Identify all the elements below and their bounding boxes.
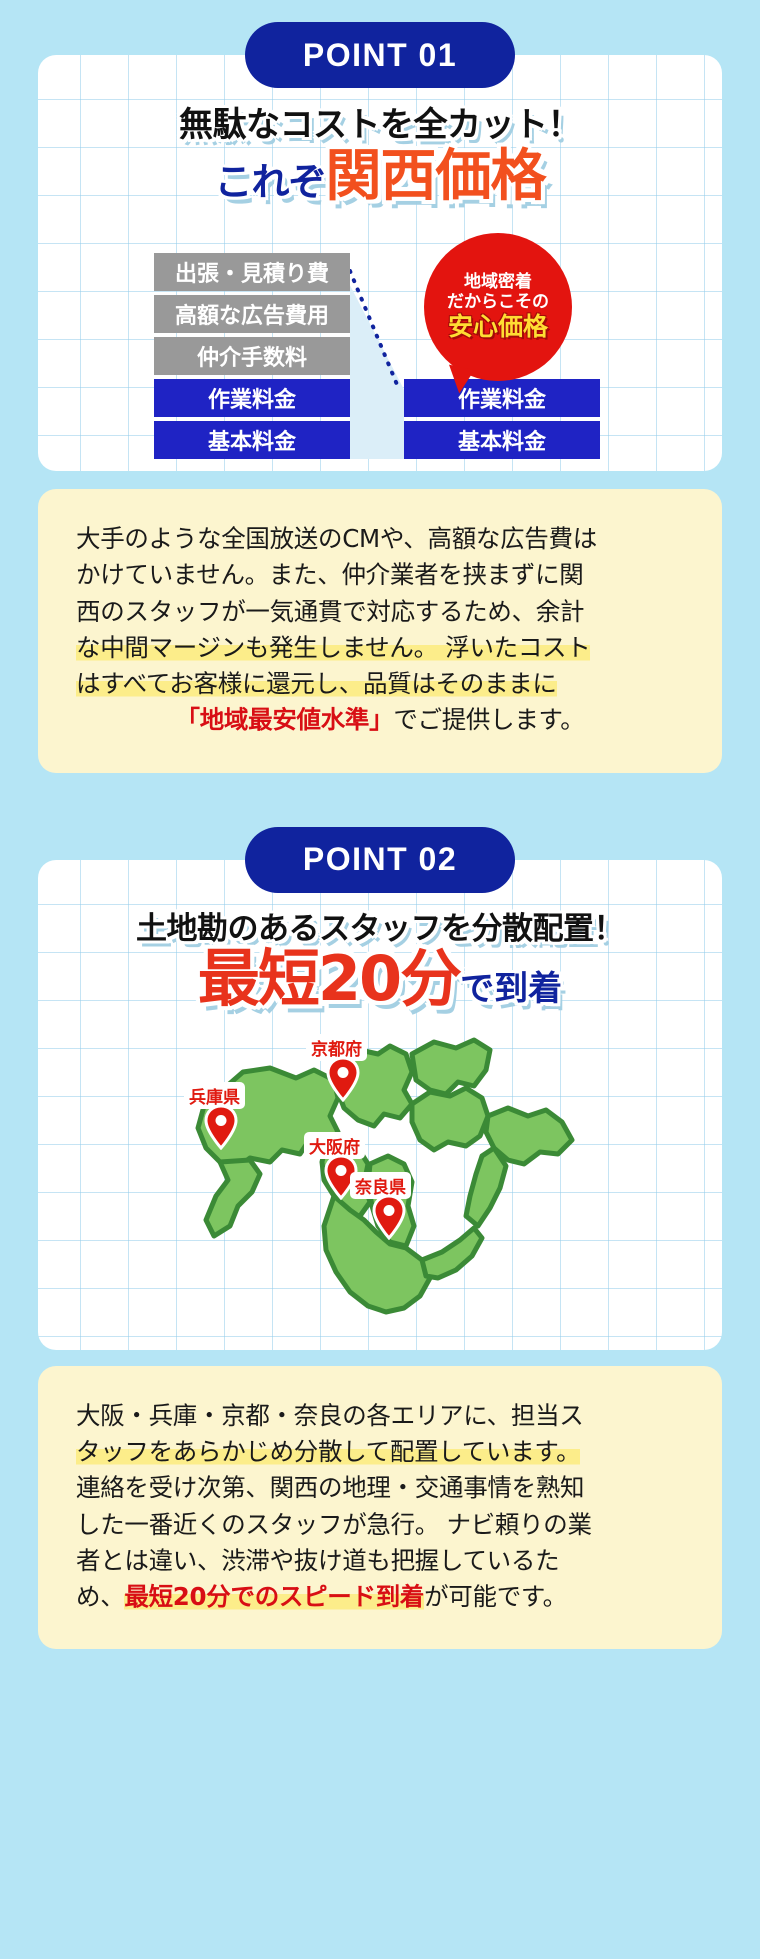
- cost-comparison-chart: 出張・見積り費 高額な広告費用 仲介手数料 作業料金 基本料金 作業料金 基本料…: [38, 233, 722, 471]
- point-01-headline-line1: 無駄なコストを全カット！: [38, 107, 722, 144]
- desc1-line-6: 「地域最安値水準」でご提供します。: [76, 702, 684, 738]
- desc2-line-4: した一番近くのスタッフが急行。 ナビ頼りの業: [76, 1507, 684, 1543]
- desc2-line-5: 者とは違い、渋滞や抜け道も把握しているた: [76, 1543, 684, 1579]
- desc2-line-6: め、最短20分でのスピード到着が可能です。: [76, 1579, 684, 1615]
- bar-work-fee-right: 作業料金: [404, 379, 600, 417]
- landing-page: POINT 01 無駄なコストを全カット！ これぞ関西価格 出張・見積り費 高額…: [0, 0, 760, 1959]
- chart-column-other-company: 出張・見積り費 高額な広告費用 仲介手数料 作業料金 基本料金: [154, 253, 350, 459]
- point-02-headline-line1: 土地勘のあるスタッフを分散配置！: [38, 912, 722, 946]
- map-pin-hyogo-icon[interactable]: [204, 1104, 238, 1150]
- bar-broker-commission: 仲介手数料: [154, 337, 350, 375]
- map-pin-nara-icon[interactable]: [372, 1194, 406, 1240]
- desc1-line-2: かけていません。また、仲介業者を挟まずに関: [76, 557, 684, 593]
- point-01-headline-line2: これぞ関西価格: [38, 148, 722, 207]
- desc2-line-2-highlight: タッフをあらかじめ分散して配置しています。: [76, 1437, 580, 1466]
- desc1-line-4-highlight: な中間マージンも発生しません。 浮いたコスト: [76, 633, 590, 662]
- chart-column-our-company: 作業料金 基本料金: [404, 379, 600, 459]
- bar-high-ad-cost: 高額な広告費用: [154, 295, 350, 333]
- point-02-section: POINT 02 土地勘のあるスタッフを分散配置！ 最短20分で到着: [38, 809, 722, 1650]
- point-01-section: POINT 01 無駄なコストを全カット！ これぞ関西価格 出張・見積り費 高額…: [38, 0, 722, 773]
- desc1-line-1: 大手のような全国放送のCMや、高額な広告費は: [76, 521, 684, 557]
- headline-main: 関西価格: [326, 144, 546, 209]
- desc1-line-5-highlight: はすべてお客様に還元し、品質はそのままに: [76, 669, 557, 698]
- desc2-line-2: タッフをあらかじめ分散して配置しています。: [76, 1434, 684, 1470]
- desc2-line-6-tail: が可能です。: [424, 1582, 567, 1611]
- desc2-line-6-head: め、: [76, 1582, 124, 1611]
- burst-line1: 地域密着: [464, 272, 532, 292]
- point-02-description-box: 大阪・兵庫・京都・奈良の各エリアに、担当ス タッフをあらかじめ分散して配置してい…: [38, 1366, 722, 1650]
- desc1-emphasis: 「地域最安値水準」: [176, 705, 394, 734]
- burst-text: 地域密着 だからこその 安心価格: [424, 233, 572, 381]
- burst-line3: 安心価格: [448, 312, 548, 342]
- desc2-line-1: 大阪・兵庫・京都・奈良の各エリアに、担当ス: [76, 1398, 684, 1434]
- bar-base-fee-right: 基本料金: [404, 421, 600, 459]
- bar-base-fee-left: 基本料金: [154, 421, 350, 459]
- kansai-map: 京都府 兵庫県 大阪府: [38, 1020, 722, 1350]
- point-02-card: 土地勘のあるスタッフを分散配置！ 最短20分で到着: [38, 860, 722, 1350]
- headline-20min: 最短20分: [198, 942, 460, 1015]
- anshin-price-burst-badge: 地域密着 だからこその 安心価格: [424, 233, 572, 381]
- chart-wedge: [350, 285, 404, 459]
- point-01-card: 無駄なコストを全カット！ これぞ関西価格 出張・見積り費 高額な広告費用 仲介手…: [38, 55, 722, 471]
- bar-travel-estimate-fee: 出張・見積り費: [154, 253, 350, 291]
- headline-prefix: これぞ: [214, 160, 325, 204]
- point-01-badge: POINT 01: [245, 22, 515, 88]
- burst-line2: だからこその: [447, 292, 549, 312]
- desc1-line-6-tail: でご提供します。: [393, 705, 584, 734]
- headline-arrive: で到着: [460, 969, 562, 1009]
- map-pin-kyoto-icon[interactable]: [326, 1056, 360, 1102]
- bar-work-fee-left: 作業料金: [154, 379, 350, 417]
- desc2-emphasis: 最短20分でのスピード到着: [124, 1582, 424, 1611]
- desc1-line-5: はすべてお客様に還元し、品質はそのままに: [76, 666, 684, 702]
- point-01-description-box: 大手のような全国放送のCMや、高額な広告費は かけていません。また、仲介業者を挟…: [38, 489, 722, 773]
- desc1-line-3: 西のスタッフが一気通貫で対応するため、余計: [76, 594, 684, 630]
- point-02-headline-line2: 最短20分で到着: [38, 948, 722, 1010]
- desc1-line-4: な中間マージンも発生しません。 浮いたコスト: [76, 630, 684, 666]
- desc2-line-3: 連絡を受け次第、関西の地理・交通事情を熟知: [76, 1470, 684, 1506]
- point-02-badge: POINT 02: [245, 827, 515, 893]
